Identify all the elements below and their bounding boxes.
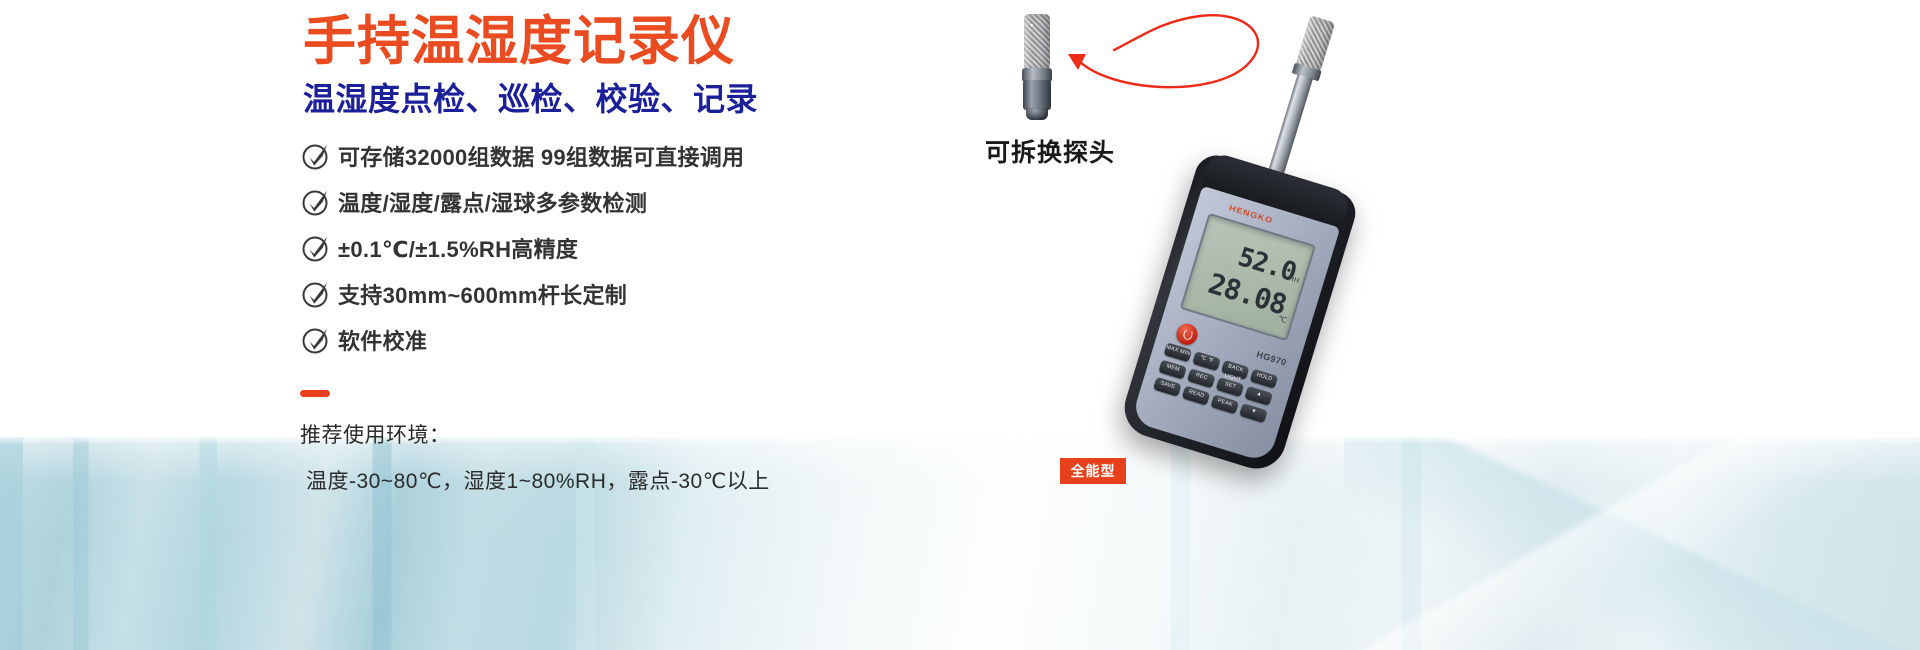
- list-item: 软件校准: [300, 317, 744, 363]
- list-item-label: ±0.1℃/±1.5%RH高精度: [338, 232, 578, 264]
- keypad-button[interactable]: ▲: [1244, 386, 1273, 406]
- divider-dash: [300, 390, 330, 397]
- check-circle-icon: [300, 187, 338, 217]
- list-item-label: 支持30mm~600mm杆长定制: [338, 278, 627, 310]
- keypad-button[interactable]: REC: [1187, 368, 1216, 388]
- status-badge: 全能型: [1060, 458, 1126, 484]
- temperature-unit-label: ℃: [1277, 314, 1288, 325]
- list-item: 温度/湿度/露点/湿球多参数检测: [300, 179, 744, 225]
- list-item-label: 温度/湿度/露点/湿球多参数检测: [338, 186, 647, 218]
- list-item-label: 软件校准: [338, 324, 427, 356]
- page-subtitle: 温湿度点检、巡检、校验、记录: [303, 82, 758, 117]
- device-front-panel: HENGKO 52.0 % RH 28.08 ℃ HG970 MAX MIN ℃…: [1131, 186, 1341, 463]
- check-circle-icon: [300, 141, 338, 171]
- model-number: HG970: [1255, 349, 1288, 368]
- check-circle-icon: [300, 325, 338, 355]
- usage-note-detail: 温度-30~80℃，湿度1~80%RH，露点-30℃以上: [300, 465, 1100, 495]
- list-item: 可存储32000组数据 99组数据可直接调用: [300, 133, 744, 179]
- check-circle-icon: [300, 233, 338, 263]
- product-banner: 手持温湿度记录仪 温湿度点检、巡检、校验、记录 可存储32000组数据 99组数…: [0, 0, 1920, 650]
- probe-mesh-filter: [1024, 14, 1050, 70]
- probe-callout-label: 可拆换探头: [985, 133, 1115, 169]
- usage-note-heading: 推荐使用环境：: [300, 419, 1100, 449]
- power-button[interactable]: [1174, 321, 1200, 347]
- list-item-label: 可存储32000组数据 99组数据可直接调用: [338, 140, 744, 172]
- page-title: 手持温湿度记录仪: [303, 14, 735, 70]
- device-housing: HENGKO 52.0 % RH 28.08 ℃ HG970 MAX MIN ℃…: [1117, 150, 1361, 476]
- keypad-button[interactable]: ℃ ℉: [1192, 351, 1221, 371]
- probe-connector: [1026, 108, 1048, 120]
- feature-list: 可存储32000组数据 99组数据可直接调用 温度/湿度/露点/湿球多参数检测: [300, 133, 744, 363]
- keypad-button[interactable]: ▼: [1239, 403, 1268, 423]
- keypad-button[interactable]: BACK LIGHT: [1221, 360, 1250, 380]
- probe-body: [1023, 80, 1051, 110]
- banner-background-top: [0, 0, 1920, 437]
- keypad-button[interactable]: MAX MIN: [1163, 342, 1192, 362]
- keypad-button[interactable]: READ: [1182, 386, 1211, 406]
- list-item: 支持30mm~600mm杆长定制: [300, 271, 744, 317]
- device-illustration: HENGKO 52.0 % RH 28.08 ℃ HG970 MAX MIN ℃…: [1100, 0, 1430, 520]
- keypad-button[interactable]: MEM: [1158, 360, 1187, 380]
- list-item: ±0.1℃/±1.5%RH高精度: [300, 225, 744, 271]
- usage-note-block: 推荐使用环境： 温度-30~80℃，湿度1~80%RH，露点-30℃以上: [300, 390, 1100, 495]
- check-circle-icon: [300, 279, 338, 309]
- keypad-button[interactable]: HOLD: [1250, 369, 1279, 389]
- lcd-display: 52.0 % RH 28.08 ℃: [1180, 213, 1316, 341]
- keypad-button[interactable]: SAVE: [1153, 377, 1182, 397]
- keypad-button[interactable]: PEAK: [1210, 394, 1239, 414]
